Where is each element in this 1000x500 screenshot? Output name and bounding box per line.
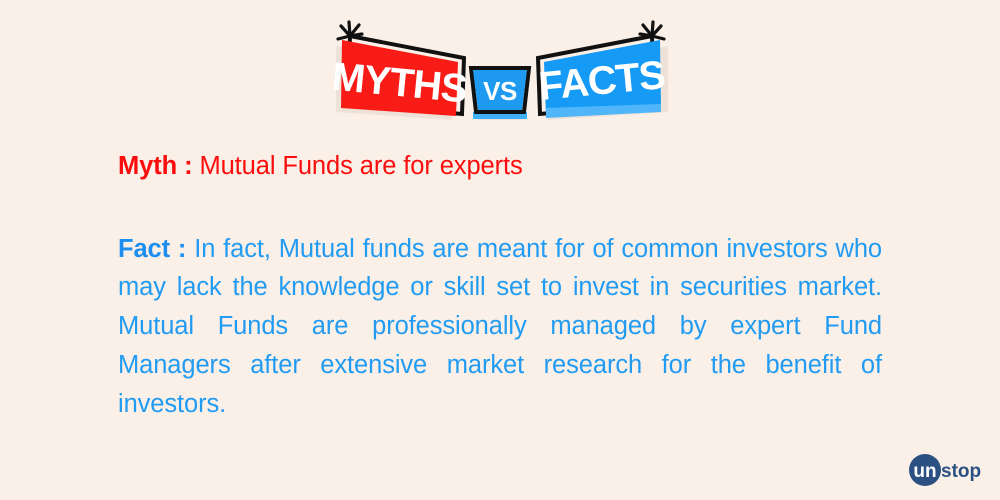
slide-canvas: MYTHS FACTS VS [0, 0, 1000, 500]
sparkle-center-left [347, 33, 352, 38]
unstop-logo-mark-text: un [913, 461, 936, 482]
myths-vs-facts-banner: MYTHS FACTS VS [0, 8, 1000, 128]
unstop-logo-graphic: un stop [908, 452, 990, 488]
myth-text: Mutual Funds are for experts [192, 152, 522, 180]
myth-statement: Myth : Mutual Funds are for experts [118, 150, 882, 183]
myth-label: Myth : [118, 152, 192, 180]
banner-graphic: MYTHS FACTS VS [0, 8, 1000, 128]
unstop-logo[interactable]: un stop [908, 452, 990, 488]
sparkle-center-right [649, 33, 654, 38]
content-block: Myth : Mutual Funds are for experts Fact… [118, 150, 882, 449]
fact-text: In fact, Mutual funds are meant for of c… [118, 235, 882, 418]
banner-vs-label: VS [483, 76, 517, 106]
fact-statement: Fact : In fact, Mutual funds are meant f… [118, 230, 882, 424]
fact-label: Fact : [118, 235, 186, 263]
unstop-logo-word-text: stop [941, 461, 981, 482]
